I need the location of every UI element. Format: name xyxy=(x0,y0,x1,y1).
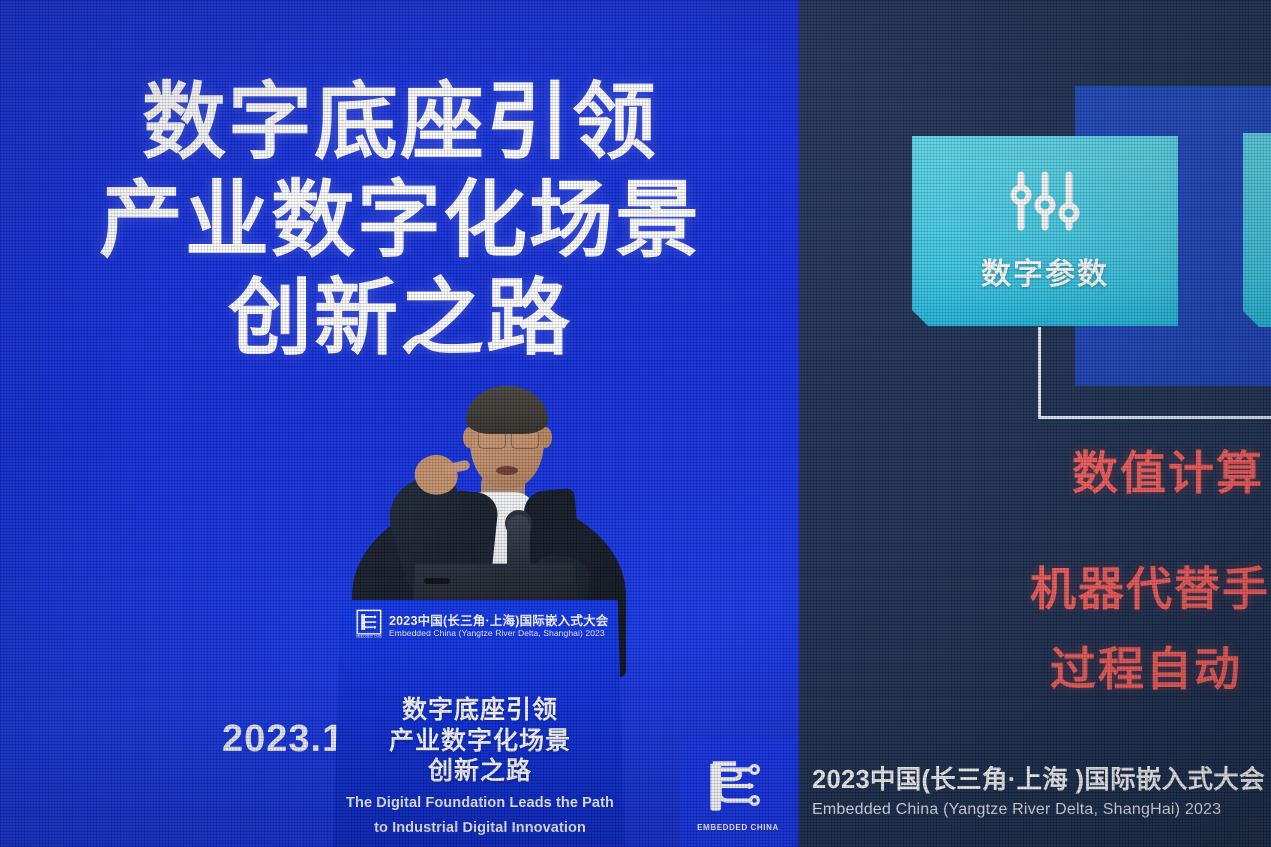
banner-title-en: Embedded China (Yangtze River Delta, Sha… xyxy=(812,800,1265,821)
banner-text-block: 2023中国(长三角·上海 )国际嵌入式大会 Embedded China (Y… xyxy=(796,764,1265,821)
bottom-banner: EMBEDDED CHINA 2023中国(长三角·上海 )国际嵌入式大会 Em… xyxy=(680,738,1271,847)
slide-card-secondary xyxy=(1243,133,1271,327)
laptop-hinge xyxy=(424,578,450,584)
slide-card-label: 数字参数 xyxy=(981,249,1109,293)
podium-header-cn: 2023中国(长三角·上海)国际嵌入式大会 xyxy=(389,614,609,629)
banner-logo-box: EMBEDDED CHINA xyxy=(680,738,796,847)
podium-logo-icon: EMBEDDED CHINA xyxy=(356,609,382,644)
slide-card-digital-parameters: 数字参数 xyxy=(912,136,1178,326)
slide-text-2: 机器代替手 xyxy=(1030,553,1270,619)
connector-line-vertical xyxy=(1038,327,1041,419)
podium-title-block: 数字底座引领 产业数字化场景 创新之路 The Digital Foundati… xyxy=(345,695,615,837)
podium-title-cn-1: 数字底座引领 xyxy=(345,695,615,726)
embedded-china-logo-icon xyxy=(707,757,769,820)
podium-title-cn-2: 产业数字化场景 xyxy=(345,726,615,757)
sliders-icon xyxy=(1009,170,1081,243)
slide-text-3: 过程自动 xyxy=(1050,633,1242,699)
podium-title-cn-3: 创新之路 xyxy=(345,756,615,787)
slide-text-1: 数值计算 xyxy=(1072,437,1264,503)
podium-title-en-1: The Digital Foundation Leads the Path xyxy=(345,794,615,812)
headline-line-2: 产业数字化场景 xyxy=(30,176,770,266)
left-screen-headline: 数字底座引领 产业数字化场景 创新之路 xyxy=(30,78,770,364)
speaker-ear-right xyxy=(539,427,552,448)
speaker-glasses-left xyxy=(478,429,506,449)
banner-title-cn: 2023中国(长三角·上海 )国际嵌入式大会 xyxy=(812,764,1265,797)
headline-line-1: 数字底座引领 xyxy=(30,78,770,168)
banner-logo-caption: EMBEDDED CHINA xyxy=(697,823,779,832)
podium-title-en-2: to Industrial Digital Innovation xyxy=(345,819,615,837)
svg-text:EMBEDDED CHINA: EMBEDDED CHINA xyxy=(356,634,382,638)
podium-header: EMBEDDED CHINA 2023中国(长三角·上海)国际嵌入式大会 Emb… xyxy=(356,608,604,644)
podium-header-en: Embedded China (Yangtze River Delta, Sha… xyxy=(389,628,609,638)
headline-line-3: 创新之路 xyxy=(30,274,770,364)
speaker-glasses-right xyxy=(511,429,539,449)
speaker-mouth xyxy=(496,466,518,475)
stage-photo: 数字底座引领 产业数字化场景 创新之路 2023.10.2 xyxy=(0,0,1271,847)
connector-line-horizontal xyxy=(1038,416,1271,419)
